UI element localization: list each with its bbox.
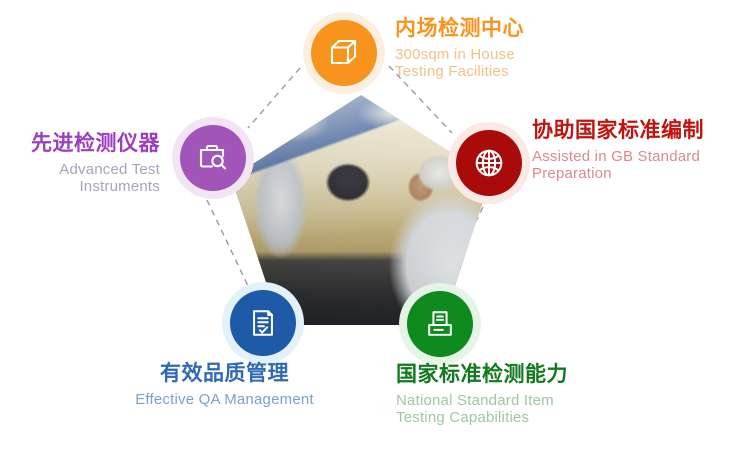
node-subtitle-line: Instruments: [0, 178, 160, 196]
node-advanced-instruments[interactable]: [172, 117, 254, 199]
node-subtitle-line: Advanced Test: [0, 161, 160, 179]
node-national-standard-testing[interactable]: [399, 283, 481, 365]
node-subtitle-line: Testing Facilities: [395, 63, 645, 81]
label-national-standard-testing: 国家标准检测能力 National Standard Item Testing …: [396, 363, 686, 427]
node-subtitle: Advanced Test Instruments: [0, 161, 160, 196]
node-subtitle: 300sqm in House Testing Facilities: [395, 46, 645, 81]
node-subtitle-line: Testing Capabilities: [396, 409, 686, 427]
node-gb-standard[interactable]: [448, 122, 530, 204]
node-subtitle-line: National Standard Item: [396, 392, 686, 410]
node-title: 国家标准检测能力: [396, 363, 686, 388]
printer-scanner-icon: [407, 291, 473, 357]
label-in-house-testing: 内场检测中心 300sqm in House Testing Facilitie…: [395, 17, 645, 81]
toolbox-magnifier-icon: [180, 125, 246, 191]
node-subtitle: Effective QA Management: [78, 391, 371, 409]
node-title: 有效品质管理: [78, 362, 371, 387]
node-qa-management[interactable]: [222, 282, 304, 364]
node-title: 协助国家标准编制: [532, 119, 737, 144]
node-title: 内场检测中心: [395, 17, 645, 42]
node-subtitle-line: 300sqm in House: [395, 46, 645, 64]
node-subtitle: National Standard Item Testing Capabilit…: [396, 392, 686, 427]
node-subtitle-line: Preparation: [532, 165, 737, 183]
node-subtitle-line: Assisted in GB Standard: [532, 148, 737, 166]
globe-icon: [456, 130, 522, 196]
label-advanced-instruments: 先进检测仪器 Advanced Test Instruments: [0, 132, 160, 196]
cube-icon: [311, 20, 377, 86]
infographic-canvas: 内场检测中心 300sqm in House Testing Facilitie…: [0, 0, 737, 457]
document-check-icon: [230, 290, 296, 356]
node-subtitle-line: Effective QA Management: [78, 391, 371, 409]
node-subtitle: Assisted in GB Standard Preparation: [532, 148, 737, 183]
label-qa-management: 有效品质管理 Effective QA Management: [78, 362, 371, 408]
node-title: 先进检测仪器: [0, 132, 160, 157]
connector-purple-blue: [207, 200, 249, 288]
connector-orange-purple: [248, 68, 300, 128]
node-in-house-testing[interactable]: [303, 12, 385, 94]
label-gb-standard: 协助国家标准编制 Assisted in GB Standard Prepara…: [532, 119, 737, 183]
